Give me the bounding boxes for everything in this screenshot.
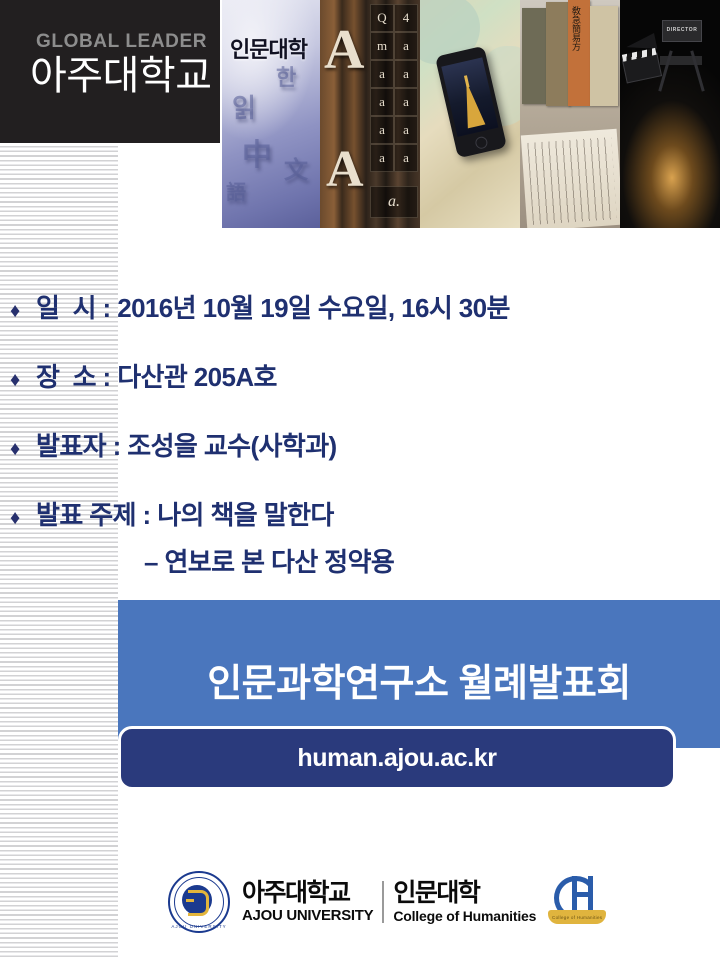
footer-university-en: AJOU UNIVERSITY xyxy=(242,908,373,923)
photo-panel-director-chair: DIRECTOR xyxy=(620,0,720,228)
photo-panel-hangul-letters: 읽 한 中 文 語 인문대학 xyxy=(222,0,320,228)
detail-label-speaker: 발표자 : xyxy=(36,431,127,461)
ajou-university-seal-icon: AJOU UNIVERSITY xyxy=(168,871,230,933)
type-cell: Q xyxy=(370,4,394,32)
decorative-glyph: 文 xyxy=(284,150,308,185)
detail-text-location: 장 소 : 다산관 205A호 xyxy=(36,357,720,394)
footer-college-en: College of Humanities xyxy=(393,909,536,923)
book-title-cjk: 敎急簡易方 xyxy=(569,6,580,51)
photo-panel-old-books: 敎急簡易方 xyxy=(520,0,620,228)
detail-text-topic: 발표 주제 : 나의 책을 말한다– 연보로 본 다산 정약용 xyxy=(36,495,720,579)
eiffel-tower-icon xyxy=(458,80,486,129)
detail-text-speaker: 발표자 : 조성을 교수(사학과) xyxy=(36,426,720,463)
wordmark-divider xyxy=(382,881,384,923)
photo-panel-phone-map xyxy=(420,0,520,228)
seal-ring-text: AJOU UNIVERSITY xyxy=(170,924,228,929)
letterpress-glyph: A xyxy=(326,140,364,199)
type-cell: a xyxy=(370,144,394,172)
diamond-bullet-icon: ♦ xyxy=(10,369,36,392)
type-cell: a xyxy=(394,116,418,144)
seal-emblem-mark xyxy=(188,890,209,916)
type-cell: a xyxy=(370,88,394,116)
emblem-ribbon-text: College of Humanities xyxy=(548,915,606,920)
college-wordmark: 인문대학 College of Humanities xyxy=(393,881,536,923)
type-cell: a xyxy=(394,60,418,88)
decorative-glyph: 語 xyxy=(226,176,246,205)
type-cell: a xyxy=(370,60,394,88)
wordmark: 아주대학교 AJOU UNIVERSITY 인문대학 College of Hu… xyxy=(242,881,536,923)
footer-logo-lockup: AJOU UNIVERSITY 아주대학교 AJOU UNIVERSITY 인문… xyxy=(168,866,648,938)
old-book xyxy=(522,8,548,104)
university-name-kr: 아주대학교 xyxy=(30,54,212,98)
type-cell: 4 xyxy=(394,4,418,32)
footer-university-kr: 아주대학교 xyxy=(242,881,373,906)
college-of-humanities-emblem-icon: College of Humanities xyxy=(548,874,606,930)
footer-college-kr: 인문대학 xyxy=(393,881,536,906)
university-header-banner: GLOBAL LEADER 아주대학교 xyxy=(0,0,220,143)
detail-label-datetime: 일 시 : xyxy=(36,293,117,323)
chair-back: DIRECTOR xyxy=(662,20,702,42)
decorative-glyph: 한 xyxy=(276,60,296,92)
seminar-series-title: 인문과학연구소 월례발표회 xyxy=(207,652,631,707)
type-cell: a. xyxy=(370,186,418,218)
detail-value-datetime: 2016년 10월 19일 수요일, 16시 30분 xyxy=(117,293,510,323)
old-book xyxy=(590,6,618,106)
type-cell: a xyxy=(370,116,394,144)
detail-row-topic: ♦ 발표 주제 : 나의 책을 말한다– 연보로 본 다산 정약용 xyxy=(0,495,720,579)
university-wordmark: 아주대학교 AJOU UNIVERSITY xyxy=(242,881,373,923)
detail-label-topic: 발표 주제 : xyxy=(36,500,157,530)
detail-row-datetime: ♦ 일 시 : 2016년 10월 19일 수요일, 16시 30분 xyxy=(0,288,720,325)
detail-value-location: 다산관 205A호 xyxy=(117,362,277,392)
old-book xyxy=(546,2,570,106)
directors-chair: DIRECTOR xyxy=(656,20,706,92)
decorative-glyph: 읽 xyxy=(232,88,256,125)
type-cell: a xyxy=(394,144,418,172)
phone-home-button xyxy=(474,136,488,150)
website-url-button[interactable]: human.ajou.ac.kr xyxy=(118,726,676,790)
director-chair-text: DIRECTOR xyxy=(663,27,701,33)
diamond-bullet-icon: ♦ xyxy=(10,300,36,323)
detail-row-location: ♦ 장 소 : 다산관 205A호 xyxy=(0,357,720,394)
detail-row-speaker: ♦ 발표자 : 조성을 교수(사학과) xyxy=(0,426,720,463)
type-cell: m xyxy=(370,32,394,60)
detail-subtitle-topic: – 연보로 본 다산 정약용 xyxy=(36,542,720,579)
open-book xyxy=(521,129,620,228)
type-cell: a xyxy=(394,32,418,60)
type-cell: a xyxy=(394,88,418,116)
emblem-letter-h-bar xyxy=(572,892,593,897)
detail-value-speaker: 조성을 교수(사학과) xyxy=(127,431,336,461)
event-details: ♦ 일 시 : 2016년 10월 19일 수요일, 16시 30분 ♦ 장 소… xyxy=(0,288,720,611)
old-book: 敎急簡易方 xyxy=(568,0,590,106)
detail-label-location: 장 소 : xyxy=(36,362,117,392)
global-leader-tagline: GLOBAL LEADER xyxy=(36,31,207,53)
detail-text-datetime: 일 시 : 2016년 10월 19일 수요일, 16시 30분 xyxy=(36,288,720,325)
photo-strip: 읽 한 中 文 語 인문대학 A A Q 4 m a a a a a a a a… xyxy=(222,0,720,228)
photo-panel-label: 인문대학 xyxy=(230,32,307,64)
diamond-bullet-icon: ♦ xyxy=(10,507,36,530)
decorative-glyph: 中 xyxy=(242,130,272,174)
detail-value-topic: 나의 책을 말한다 xyxy=(157,500,334,530)
diamond-bullet-icon: ♦ xyxy=(10,438,36,461)
letterpress-glyph: A xyxy=(324,18,364,82)
website-url-text: human.ajou.ac.kr xyxy=(297,744,496,773)
emblem-ribbon: College of Humanities xyxy=(548,910,606,924)
photo-panel-letterpress: A A Q 4 m a a a a a a a a a a. xyxy=(320,0,420,228)
